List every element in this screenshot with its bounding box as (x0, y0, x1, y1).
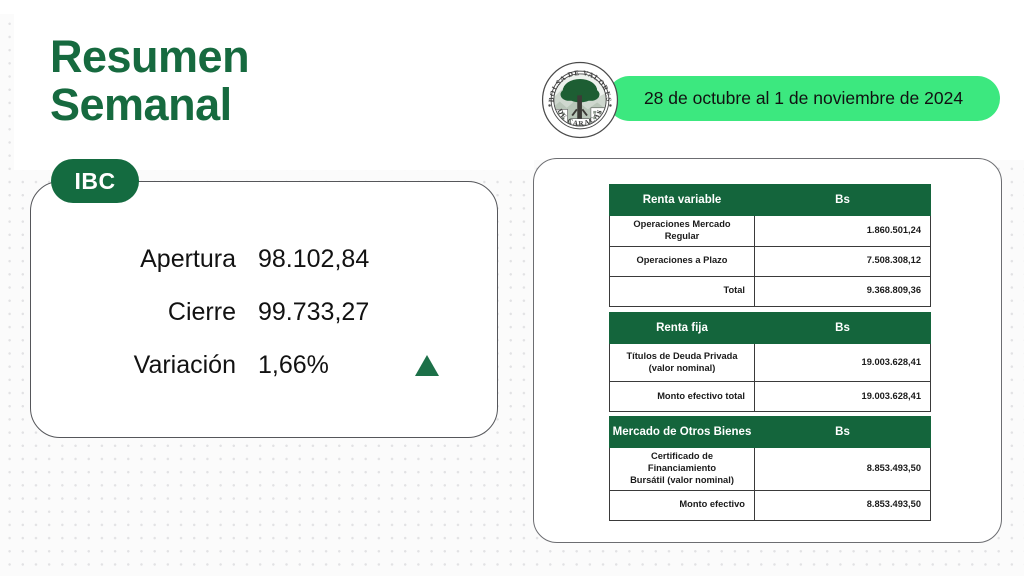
ibc-value-variacion: 1,66% (258, 351, 418, 380)
table-1-row-1-value: 19.003.628,41 (755, 382, 931, 412)
ibc-value-cierre: 99.733,27 (258, 298, 418, 327)
table-2-row-0-value: 8.853.493,50 (755, 448, 931, 491)
table-2-header-0: Mercado de Otros Bienes (610, 417, 755, 448)
table-header-row: Mercado de Otros Bienes Bs (610, 417, 931, 448)
ibc-metrics-list: Apertura 98.102,84 Cierre 99.733,27 Vari… (30, 181, 498, 438)
date-range-banner: 28 de octubre al 1 de noviembre de 2024 (607, 76, 1000, 121)
table-header-row: Renta fija Bs (610, 313, 931, 344)
table-0-row-0-label: Operaciones Mercado Regular (610, 216, 755, 247)
table-1-row-0-value: 19.003.628,41 (755, 344, 931, 382)
table-0-header-1: Bs (755, 185, 931, 216)
table-2-header-1: Bs (755, 417, 931, 448)
table-2-row-0-label: Certificado de FinanciamientoBursátil (v… (610, 448, 755, 491)
table-mercado-otros-bienes: Mercado de Otros Bienes Bs Certificado d… (609, 416, 931, 521)
page-title-line-2: Semanal (50, 81, 490, 129)
table-2-row-1-value: 8.853.493,50 (755, 490, 931, 520)
table-header-row: Renta variable Bs (610, 185, 931, 216)
ibc-arrow-variacion (412, 355, 442, 376)
table-row: Operaciones Mercado Regular 1.860.501,24 (610, 216, 931, 247)
table-row: Total 9.368.809,36 (610, 276, 931, 306)
slide-canvas: Resumen Semanal IBC Apertura 98.102,84 C… (0, 0, 1024, 576)
table-row: Monto efectivo 8.853.493,50 (610, 490, 931, 520)
table-row: Títulos de Deuda Privada(valor nominal) … (610, 344, 931, 382)
table-0-row-2-label: Total (610, 276, 755, 306)
page-title: Resumen Semanal (50, 33, 490, 128)
table-1-row-0-label: Títulos de Deuda Privada(valor nominal) (610, 344, 755, 382)
table-renta-fija: Renta fija Bs Títulos de Deuda Privada(v… (609, 312, 931, 412)
ibc-value-apertura: 98.102,84 (258, 245, 418, 274)
table-0-row-1-label: Operaciones a Plazo (610, 246, 755, 276)
table-row: Operaciones a Plazo 7.508.308,12 (610, 246, 931, 276)
table-2-row-1-label: Monto efectivo (610, 490, 755, 520)
ibc-row-cierre: Cierre 99.733,27 (30, 298, 498, 327)
table-renta-variable: Renta variable Bs Operaciones Mercado Re… (609, 184, 931, 307)
table-row: Certificado de FinanciamientoBursátil (v… (610, 448, 931, 491)
ibc-label-apertura: Apertura (30, 245, 258, 274)
ibc-row-variacion: Variación 1,66% (30, 351, 498, 380)
ibc-label-cierre: Cierre (30, 298, 258, 327)
table-1-row-1-label: Monto efectivo total (610, 382, 755, 412)
triangle-up-icon (415, 355, 439, 376)
ibc-row-apertura: Apertura 98.102,84 (30, 245, 498, 274)
table-row: Monto efectivo total 19.003.628,41 (610, 382, 931, 412)
table-0-row-2-value: 9.368.809,36 (755, 276, 931, 306)
table-0-row-0-value: 1.860.501,24 (755, 216, 931, 247)
page-title-line-1: Resumen (50, 33, 490, 81)
table-1-header-0: Renta fija (610, 313, 755, 344)
table-1-header-1: Bs (755, 313, 931, 344)
bolsa-de-valores-de-caracas-logo-icon: BOLSA DE VALORES DE CARACAS (541, 61, 619, 139)
ibc-label-variacion: Variación (30, 351, 258, 380)
table-0-header-0: Renta variable (610, 185, 755, 216)
table-0-row-1-value: 7.508.308,12 (755, 246, 931, 276)
ibc-badge: IBC (51, 159, 139, 203)
